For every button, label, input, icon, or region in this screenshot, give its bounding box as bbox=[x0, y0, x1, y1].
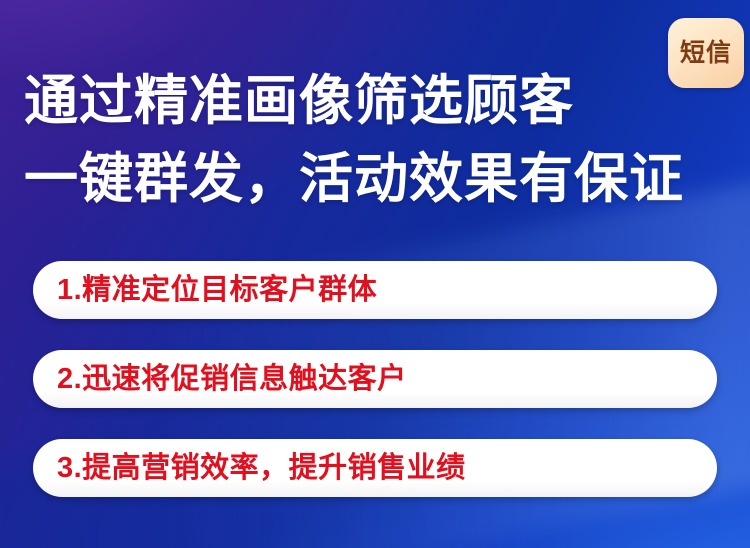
headline: 通过精准画像筛选顾客 一键群发，活动效果有保证 bbox=[24, 62, 724, 218]
headline-line-2: 一键群发，活动效果有保证 bbox=[24, 140, 724, 218]
feature-pill-3[interactable]: 3.提高营销效率，提升销售业绩 bbox=[33, 439, 717, 497]
feature-pill-3-label: 3.提高营销效率，提升销售业绩 bbox=[57, 454, 466, 483]
feature-pill-1-label: 1.精准定位目标客户群体 bbox=[57, 276, 377, 305]
headline-line-1: 通过精准画像筛选顾客 bbox=[24, 62, 724, 140]
feature-pill-1[interactable]: 1.精准定位目标客户群体 bbox=[33, 261, 717, 319]
feature-pill-2-label: 2.迅速将促销信息触达客户 bbox=[57, 365, 407, 394]
feature-pill-2[interactable]: 2.迅速将促销信息触达客户 bbox=[33, 350, 717, 408]
promo-banner: 短信 通过精准画像筛选顾客 一键群发，活动效果有保证 1.精准定位目标客户群体 … bbox=[0, 0, 750, 548]
feature-list: 1.精准定位目标客户群体 2.迅速将促销信息触达客户 3.提高营销效率，提升销售… bbox=[33, 261, 717, 528]
